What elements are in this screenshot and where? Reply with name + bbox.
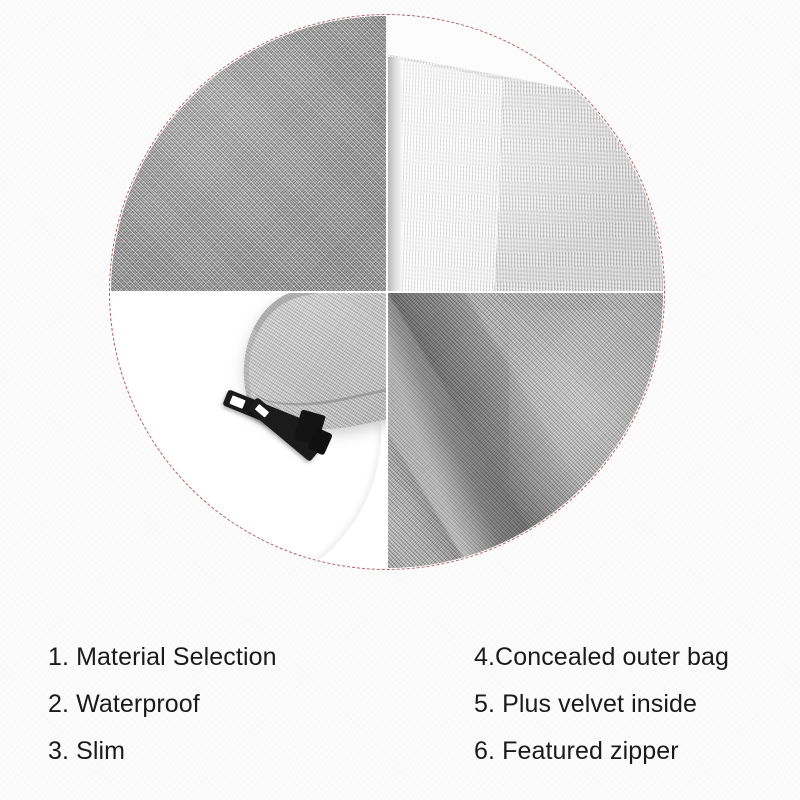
velvet-left-edge xyxy=(388,57,402,291)
feature-item-6: 6. Featured zipper xyxy=(474,736,800,766)
quadrant-plush-velvet xyxy=(387,16,663,292)
feature-item-2: 2. Waterproof xyxy=(48,689,437,719)
zipper-pull-hole xyxy=(230,396,246,409)
quadrant-featured-zipper xyxy=(111,292,387,568)
circle-collage xyxy=(109,14,665,570)
feature-item-4: 4.Concealed outer bag xyxy=(474,642,800,672)
quadrant-fabric-fold xyxy=(387,292,663,568)
quadrant-clip-container xyxy=(111,16,663,568)
feature-column-right: 4.Concealed outer bag 5. Plus velvet ins… xyxy=(437,624,800,800)
velvet-folded-flap xyxy=(388,57,504,291)
feature-list: 1. Material Selection 2. Waterproof 3. S… xyxy=(0,624,800,800)
quadrant-material-selection xyxy=(111,16,387,292)
velvet-texture xyxy=(388,16,663,291)
folded-fabric-texture xyxy=(388,293,663,568)
zipper-scene xyxy=(111,293,386,568)
feature-item-5: 5. Plus velvet inside xyxy=(474,689,800,719)
fabric-highlight xyxy=(509,310,663,530)
zipper-photo-backdrop xyxy=(158,293,386,552)
woven-fabric-texture xyxy=(111,16,386,291)
feature-item-3: 3. Slim xyxy=(48,736,437,766)
zipper-pull-hole xyxy=(254,404,269,418)
feature-item-1: 1. Material Selection xyxy=(48,642,437,672)
feature-column-left: 1. Material Selection 2. Waterproof 3. S… xyxy=(0,624,437,800)
